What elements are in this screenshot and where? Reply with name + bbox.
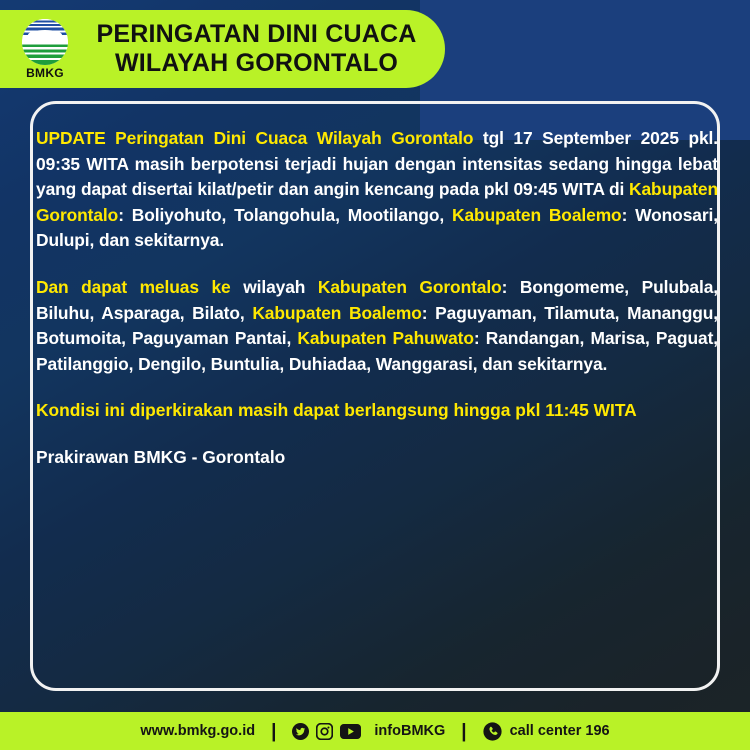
warning-paragraph-1: UPDATE Peringatan Dini Cuaca Wilayah Gor… — [36, 126, 718, 254]
footer-separator-1: | — [268, 722, 279, 741]
social-handle[interactable]: infoBMKG — [374, 723, 445, 739]
footer-separator-2: | — [458, 722, 469, 741]
social-icons — [292, 723, 361, 740]
p2-text-1: wilayah — [231, 277, 318, 297]
logo-cloud-shape — [28, 30, 63, 40]
header-title-group: PERINGATAN DINI CUACA WILAYAH GORONTALO — [82, 20, 445, 78]
bmkg-logo-label: BMKG — [26, 66, 64, 80]
p1-text-2: : Boliyohuto, Tolangohula, Mootilango, — [118, 205, 452, 225]
instagram-icon[interactable] — [316, 723, 333, 740]
weather-warning-poster: BMKG PERINGATAN DINI CUACA WILAYAH GORON… — [0, 0, 750, 750]
p2-highlight-4: Kabupaten Pahuwato — [297, 328, 473, 348]
p2-highlight-1: Dan dapat meluas ke — [36, 277, 231, 297]
footer-content: www.bmkg.go.id | infoBMKG | — [140, 722, 609, 741]
call-center-label: call center 196 — [510, 723, 610, 739]
header-banner: BMKG PERINGATAN DINI CUACA WILAYAH GORON… — [0, 10, 445, 88]
twitter-icon[interactable] — [292, 723, 309, 740]
bmkg-logo: BMKG — [8, 12, 82, 86]
page-title-line1: PERINGATAN DINI CUACA — [88, 20, 425, 49]
p1-highlight-3: Kabupaten Boalemo — [452, 205, 622, 225]
call-center-group[interactable]: call center 196 — [483, 722, 610, 741]
warning-paragraph-2: Dan dapat meluas ke wilayah Kabupaten Go… — [36, 275, 718, 377]
youtube-icon[interactable] — [340, 723, 361, 740]
p1-highlight-1: UPDATE Peringatan Dini Cuaca Wilayah Gor… — [36, 128, 473, 148]
forecaster-signature: Prakirawan BMKG - Gorontalo — [36, 445, 718, 471]
page-title-line2: WILAYAH GORONTALO — [88, 49, 425, 78]
bmkg-logo-icon — [22, 19, 68, 65]
megaphone-icon — [448, 24, 484, 63]
website-link[interactable]: www.bmkg.go.id — [140, 723, 255, 739]
phone-icon — [483, 722, 502, 741]
p2-highlight-2: Kabupaten Gorontalo — [318, 277, 502, 297]
logo-ground-lines — [22, 42, 68, 65]
warning-duration-note: Kondisi ini diperkirakan masih dapat ber… — [36, 398, 718, 424]
footer-bar: www.bmkg.go.id | infoBMKG | — [0, 712, 750, 750]
content-card-body: UPDATE Peringatan Dini Cuaca Wilayah Gor… — [36, 126, 718, 471]
p2-highlight-3: Kabupaten Boalemo — [252, 303, 421, 323]
